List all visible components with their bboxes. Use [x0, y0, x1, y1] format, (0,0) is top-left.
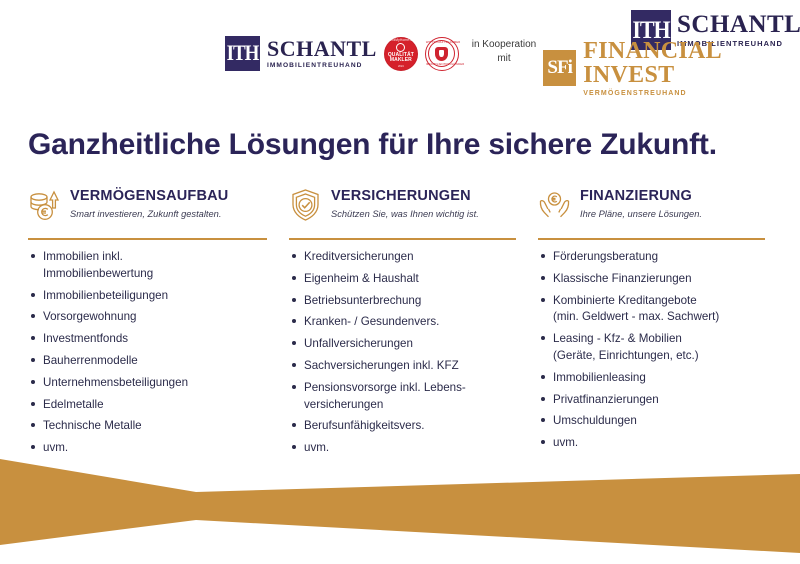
service-list: Förderungsberatung Klassische Finanzieru… — [538, 249, 765, 450]
service-list: Kreditversicherungen Eigenheim & Haushal… — [289, 249, 516, 455]
column-subtitle: Ihre Pläne, unsere Lösungen. — [580, 209, 702, 220]
column-versicherungen: VERSICHERUNGEN Schützen Sie, was Ihnen w… — [277, 186, 526, 462]
column-title: VERMÖGENSAUFBAU — [70, 189, 228, 205]
seal-red-top-text: FindMyHome.at — [388, 39, 413, 42]
page-title: Ganzheitliche Lösungen für Ihre sichere … — [28, 128, 773, 162]
list-item: Unfallversicherungen — [289, 336, 516, 351]
schantl-name: SCHANTL — [677, 12, 800, 37]
sfi-financial-invest-logo: SFi FINANCIAL INVEST VERMÖGENSTREUHAND — [543, 39, 800, 97]
list-item: Unternehmensbeteiligungen — [28, 375, 267, 390]
column-finanzierung: FINANZIERUNG Ihre Pläne, unsere Lösungen… — [526, 186, 775, 462]
column-divider — [289, 238, 516, 240]
list-item: Sachversicherungen inkl. KFZ — [289, 358, 516, 373]
seal-red-year: 2024 — [398, 65, 404, 68]
seal-red-line2: MAKLER — [390, 58, 412, 63]
column-titles: FINANZIERUNG Ihre Pläne, unsere Lösungen… — [580, 186, 702, 220]
column-header: FINANZIERUNG Ihre Pläne, unsere Lösungen… — [538, 186, 765, 232]
list-item: Kombinierte Kreditangebote — [538, 293, 765, 308]
list-item: Eigenheim & Haushalt — [289, 271, 516, 286]
list-item: Investmentfonds — [28, 331, 267, 346]
schantl-subtitle: IMMOBILIENTREUHAND — [267, 63, 377, 70]
list-item: Privatfinanzierungen — [538, 392, 765, 407]
list-item-continuation: versicherungen — [289, 397, 516, 412]
schantl-name: SCHANTL — [267, 38, 377, 60]
list-item: Klassische Finanzierungen — [538, 271, 765, 286]
column-header: VERSICHERUNGEN Schützen Sie, was Ihnen w… — [289, 186, 516, 232]
column-subtitle: Smart investieren, Zukunft gestalten. — [70, 209, 228, 220]
coins-euro-growth-icon — [28, 188, 61, 222]
cooperation-note: in Kooperation mit — [468, 38, 540, 65]
footer-ribbon-graphic — [0, 440, 800, 564]
hands-coin-euro-icon — [538, 188, 571, 222]
list-item: Umschuldungen — [538, 413, 765, 428]
logo-bar: ITH SCHANTL IMMOBILIENTREUHAND ITH SCHAN… — [0, 0, 800, 100]
marketing-flyer: ITH SCHANTL IMMOBILIENTREUHAND ITH SCHAN… — [0, 0, 800, 564]
list-item-continuation: Immobilienbewertung — [28, 266, 267, 281]
list-item: Pensionsvorsorge inkl. Lebens- — [289, 380, 516, 395]
column-divider — [28, 238, 267, 240]
column-divider — [538, 238, 765, 240]
sfi-subtitle: VERMÖGENSTREUHAND — [583, 90, 800, 97]
wirtschaftskammer-seal-icon: WIRTSCHAFTSKAMMER IMMOBILIENTREUHÄNDER — [425, 37, 459, 71]
list-item: Immobilienbeteiligungen — [28, 288, 267, 303]
seal-white-bottom-text: IMMOBILIENTREUHÄNDER — [426, 63, 458, 66]
column-titles: VERSICHERUNGEN Schützen Sie, was Ihnen w… — [331, 186, 479, 220]
schantl-wordmark: SCHANTL IMMOBILIENTREUHAND — [267, 38, 377, 70]
list-item: Bauherrenmodelle — [28, 353, 267, 368]
qualitaets-makler-seal-icon: FindMyHome.at QUALITÄT MAKLER 2024 — [384, 37, 418, 71]
list-item: Leasing - Kfz- & Mobilien — [538, 331, 765, 346]
schantl-logo-center: ITH SCHANTL IMMOBILIENTREUHAND FindMyHom… — [225, 36, 459, 71]
service-list: Immobilien inkl. Immobilienbewertung Imm… — [28, 249, 267, 455]
list-item: Kreditversicherungen — [289, 249, 516, 264]
column-subtitle: Schützen Sie, was Ihnen wichtig ist. — [331, 209, 479, 220]
column-vermoegensaufbau: VERMÖGENSAUFBAU Smart investieren, Zukun… — [28, 186, 277, 462]
list-item: Förderungsberatung — [538, 249, 765, 264]
ith-monogram-text: ITH — [227, 43, 259, 65]
shield-check-icon — [289, 188, 322, 222]
sfi-wordmark: FINANCIAL INVEST VERMÖGENSTREUHAND — [583, 39, 800, 97]
seal-crest-icon — [435, 47, 448, 61]
list-item: Vorsorgewohnung — [28, 309, 267, 324]
service-columns: VERMÖGENSAUFBAU Smart investieren, Zukun… — [28, 186, 776, 462]
column-title: FINANZIERUNG — [580, 189, 702, 205]
list-item: Technische Metalle — [28, 418, 267, 433]
list-item: Kranken- / Gesundenvers. — [289, 314, 516, 329]
list-item-continuation: (min. Geldwert - max. Sachwert) — [538, 309, 765, 324]
list-item: Betriebsunterbrechung — [289, 293, 516, 308]
ith-monogram-icon: ITH — [225, 36, 260, 71]
column-header: VERMÖGENSAUFBAU Smart investieren, Zukun… — [28, 186, 267, 232]
column-title: VERSICHERUNGEN — [331, 189, 479, 205]
sfi-monogram-text: SFi — [547, 57, 571, 79]
list-item: Edelmetalle — [28, 397, 267, 412]
seal-white-top-text: WIRTSCHAFTSKAMMER — [426, 41, 458, 44]
sfi-monogram-icon: SFi — [543, 50, 576, 86]
list-item: Immobilien inkl. — [28, 249, 267, 264]
list-item-continuation: (Geräte, Einrichtungen, etc.) — [538, 348, 765, 363]
list-item: Berufsunfähigkeitsvers. — [289, 418, 516, 433]
list-item: Immobilienleasing — [538, 370, 765, 385]
column-titles: VERMÖGENSAUFBAU Smart investieren, Zukun… — [70, 186, 228, 220]
sfi-name: FINANCIAL INVEST — [583, 39, 800, 87]
